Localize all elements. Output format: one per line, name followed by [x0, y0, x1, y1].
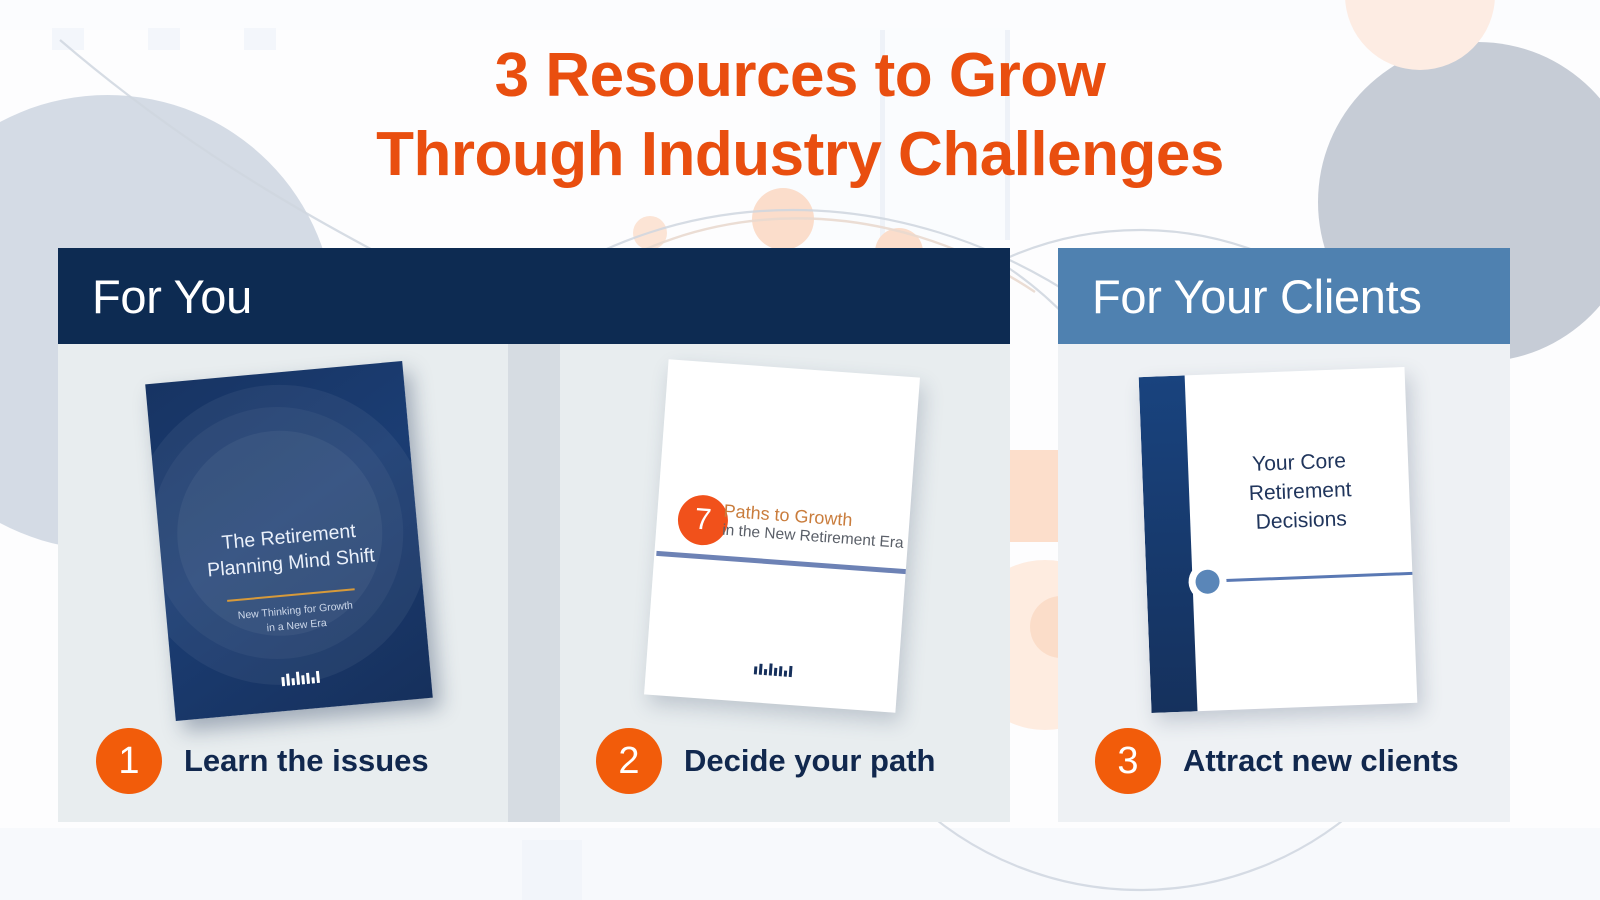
- brand-logo-icon: [281, 670, 320, 686]
- step-label-3: Attract new clients: [1183, 743, 1459, 779]
- card-header-label-for-you: For You: [58, 269, 252, 324]
- book2-cover-face: 7 Paths to Growth in the New Retirement …: [644, 359, 920, 713]
- step-number-badge-2: 2: [596, 728, 662, 794]
- card-header-for-you: For You: [58, 248, 1010, 344]
- book3-title: Your Core Retirement Decisions: [1198, 445, 1403, 540]
- book-cover-your-core-retirement-decisions[interactable]: Your Core Retirement Decisions: [1139, 367, 1418, 713]
- card-header-label-for-your-clients: For Your Clients: [1058, 269, 1422, 324]
- card-header-for-your-clients: For Your Clients: [1058, 248, 1510, 344]
- step-number-badge-3: 3: [1095, 728, 1161, 794]
- step-item-1[interactable]: 1 Learn the issues: [96, 728, 429, 794]
- brand-logo-icon: [754, 662, 793, 677]
- infographic-canvas: 3 Resources to Grow Through Industry Cha…: [0, 0, 1600, 900]
- step-label-2: Decide your path: [684, 743, 936, 779]
- step-item-3[interactable]: 3 Attract new clients: [1095, 728, 1459, 794]
- step-label-1: Learn the issues: [184, 743, 429, 779]
- book3-accent-line: [1212, 572, 1417, 583]
- step-number-badge-1: 1: [96, 728, 162, 794]
- step-item-2[interactable]: 2 Decide your path: [596, 728, 936, 794]
- card-divider: [508, 344, 560, 822]
- book2-rule: [656, 551, 908, 574]
- book-cover-7-paths-to-growth[interactable]: 7 Paths to Growth in the New Retirement …: [644, 359, 920, 713]
- book1-cover-face: The Retirement Planning Mind Shift New T…: [145, 361, 433, 721]
- book-cover-retirement-planning-mind-shift[interactable]: The Retirement Planning Mind Shift New T…: [145, 361, 433, 721]
- page-title: 3 Resources to Grow Through Industry Cha…: [0, 36, 1600, 195]
- book3-cover-face: Your Core Retirement Decisions: [1139, 367, 1418, 713]
